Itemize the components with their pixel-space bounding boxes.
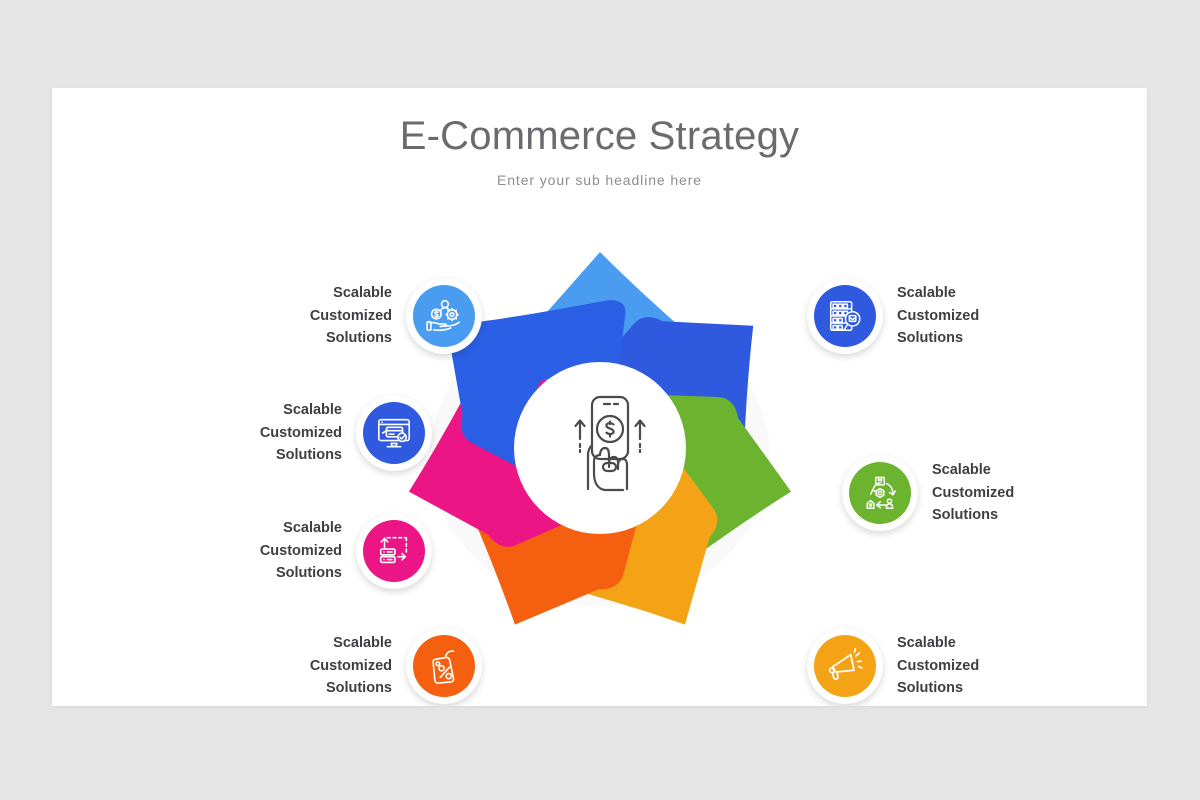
node-label: Scalable Customized Solutions [310,632,392,700]
node-server-data-migration[interactable]: Scalable Customized Solutions [122,513,432,589]
node-hand-money-gear[interactable]: Scalable Customized Solutions [172,278,482,354]
node-label: Scalable Customized Solutions [260,517,342,585]
node-label: Scalable Customized Solutions [932,459,1014,527]
node-label: Scalable Customized Solutions [897,632,979,700]
node-megaphone[interactable]: Scalable Customized Solutions [807,628,1117,704]
node-badge[interactable] [406,278,482,354]
supply-chain-cycle-icon [861,474,899,512]
discount-tag-percent-icon [425,647,463,685]
hand-money-gear-icon [425,297,463,335]
node-badge[interactable] [807,628,883,704]
page-title: E-Commerce Strategy [52,114,1147,159]
server-data-migration-icon [375,532,413,570]
node-badge[interactable] [807,278,883,354]
node-label: Scalable Customized Solutions [310,282,392,350]
page-subtitle: Enter your sub headline here [52,172,1147,188]
megaphone-icon [826,647,864,685]
store-shelf-search-icon [826,297,864,335]
node-supply-chain-cycle[interactable]: Scalable Customized Solutions [842,455,1147,531]
node-badge[interactable] [842,455,918,531]
node-label: Scalable Customized Solutions [897,282,979,350]
slide-page: E-Commerce Strategy Enter your sub headl… [0,0,1200,800]
node-monitor-credit-card[interactable]: Scalable Customized Solutions [122,395,432,471]
slide-canvas: E-Commerce Strategy Enter your sub headl… [52,88,1147,706]
node-badge[interactable] [406,628,482,704]
node-label: Scalable Customized Solutions [260,399,342,467]
mobile-payment-hand-icon [567,393,653,497]
node-discount-tag[interactable]: Scalable Customized Solutions [172,628,482,704]
node-badge[interactable] [356,513,432,589]
node-badge[interactable] [356,395,432,471]
node-store-shelf-search[interactable]: Scalable Customized Solutions [807,278,1117,354]
monitor-credit-card-icon [375,414,413,452]
